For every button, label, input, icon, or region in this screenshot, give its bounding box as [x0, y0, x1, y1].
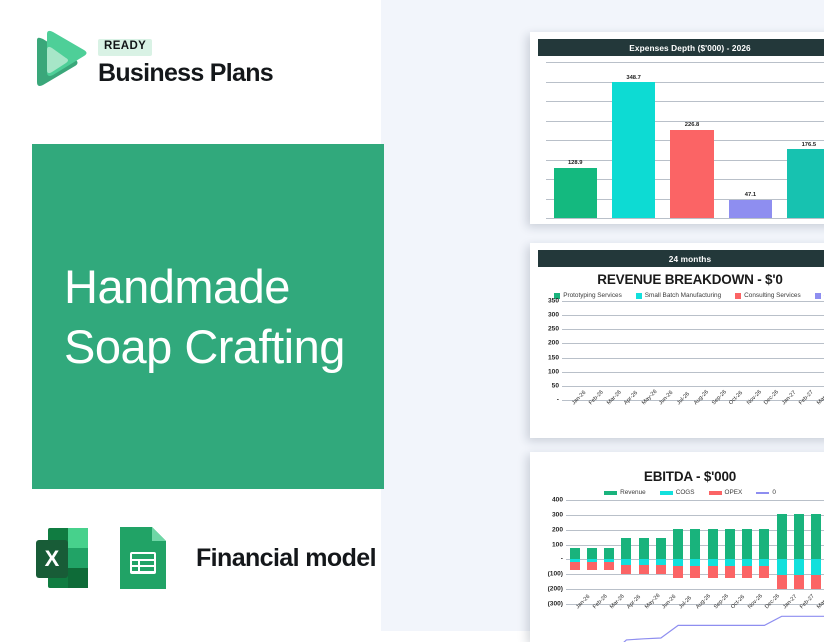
expenses-depth-card: Expenses Depth ($'000) - 2026 128.9348.7… [530, 32, 824, 224]
legend-label: Small Batch Manufacturing [645, 292, 721, 299]
bar-slot [790, 301, 808, 400]
legend-item: Revenue [604, 489, 646, 496]
bar-value-label: 47.1 [745, 192, 756, 198]
x-axis-slot: Nov-26 [739, 604, 756, 634]
brand-header: READY Business Plans [28, 28, 273, 90]
x-axis-slot: Dec-26 [755, 400, 773, 430]
revenue-chart-legend: Prototyping ServicesSmall Batch Manufact… [538, 292, 824, 299]
y-axis-tick-label: (300) [548, 601, 566, 608]
x-axis-slot: May-26 [632, 400, 650, 430]
x-axis-slot: Apr-26 [615, 400, 633, 430]
bar-slot [667, 301, 685, 400]
legend-swatch [709, 491, 722, 495]
legend-swatch [636, 293, 642, 299]
legend-item: - [815, 292, 824, 299]
bar-slot [650, 301, 668, 400]
bar: 226.8 [670, 130, 713, 218]
x-axis-slot: Feb-27 [790, 400, 808, 430]
y-axis-tick-label: 200 [548, 340, 562, 347]
bar-value-label: 128.9 [568, 160, 583, 166]
bar: 47.1 [729, 200, 772, 218]
legend-label: Prototyping Services [563, 292, 622, 299]
legend-label: COGS [676, 489, 695, 496]
bar-value-label: 226.8 [685, 122, 700, 128]
bar-slot: 176.5 [780, 62, 824, 218]
y-axis-tick-label: 150 [548, 354, 562, 361]
bar-value-label: 176.5 [802, 142, 817, 148]
bar: 128.9 [554, 168, 597, 218]
legend-item: COGS [660, 489, 695, 496]
revenue-breakdown-card: 24 months REVENUE BREAKDOWN - $'0 Protot… [530, 243, 824, 438]
footer-label: Financial model [196, 544, 376, 573]
y-axis-tick-label: 200 [552, 526, 566, 533]
bar-slot [615, 301, 633, 400]
revenue-chart-banner: 24 months [538, 250, 824, 267]
legend-label: Revenue [620, 489, 646, 496]
brand-text-block: READY Business Plans [98, 32, 273, 86]
bar-slot: 348.7 [604, 62, 662, 218]
ebitda-card: EBITDA - $'000 RevenueCOGSOPEX0 40030020… [530, 452, 824, 642]
brand-name: Business Plans [98, 60, 273, 86]
y-axis-tick-label: (200) [548, 586, 566, 593]
legend-swatch [756, 492, 769, 494]
x-axis-slot: Jul-26 [670, 604, 687, 634]
y-axis-tick-label: 300 [548, 312, 562, 319]
legend-swatch [660, 491, 673, 495]
y-axis-tick-label: 100 [548, 368, 562, 375]
hero-panel: Handmade Soap Crafting [32, 144, 384, 489]
bar-slot [720, 301, 738, 400]
bar: 348.7 [612, 82, 655, 218]
bar: 176.5 [787, 149, 824, 218]
revenue-chart-plot: 35030025020015010050- Jan-26Feb-26Mar-26… [562, 301, 824, 400]
bar-slot [580, 301, 598, 400]
x-axis-slot: Apr-26 [618, 604, 635, 634]
expenses-bars: 128.9348.7226.847.1176.5 [546, 62, 824, 218]
x-axis-slot: Mar-27 [808, 604, 824, 634]
excel-file-icon[interactable]: X [32, 522, 96, 594]
x-axis-slot: Mar-27 [807, 400, 824, 430]
x-axis-slot: Feb-27 [790, 604, 807, 634]
legend-label: 0 [772, 489, 776, 496]
x-axis-slot: Jan-27 [773, 604, 790, 634]
x-axis-slot: Aug-26 [685, 400, 703, 430]
bar-slot [737, 301, 755, 400]
y-axis-tick-label: 400 [552, 497, 566, 504]
svg-text:X: X [45, 546, 60, 571]
x-axis-slot: Aug-26 [687, 604, 704, 634]
x-axis-slot: Jan-26 [566, 604, 583, 634]
bar-slot [632, 301, 650, 400]
footer-bar: X Financial model [32, 522, 376, 594]
play-triangles-logo-icon [28, 28, 88, 90]
ebitda-x-axis-labels: Jan-26Feb-26Mar-26Apr-26May-26Jun-26Jul-… [566, 604, 824, 634]
ebitda-chart-title: EBITDA - $'000 [538, 469, 824, 484]
x-axis-slot: Jan-26 [562, 400, 580, 430]
bar-slot [685, 301, 703, 400]
bar-slot [772, 301, 790, 400]
x-axis-slot: Jun-26 [650, 400, 668, 430]
x-axis-slot: Sep-26 [704, 604, 721, 634]
y-axis-tick-label: 300 [552, 511, 566, 518]
legend-item: OPEX [709, 489, 743, 496]
bar-slot: 47.1 [721, 62, 779, 218]
legend-label: Consulting Services [744, 292, 800, 299]
y-axis-tick-label: 350 [548, 298, 562, 305]
x-axis-slot: Sep-26 [702, 400, 720, 430]
ebitda-chart-legend: RevenueCOGSOPEX0 [538, 489, 824, 496]
x-axis-slot: Feb-26 [580, 400, 598, 430]
x-axis-slot: Jun-26 [652, 604, 669, 634]
bar-slot [807, 301, 824, 400]
legend-label: OPEX [725, 489, 743, 496]
revenue-bars [562, 301, 824, 400]
expenses-chart-plot: 128.9348.7226.847.1176.5 [546, 62, 824, 218]
bar-value-label: 348.7 [626, 75, 641, 81]
legend-item: 0 [756, 489, 776, 496]
legend-swatch [604, 491, 617, 495]
x-axis-slot: Jul-26 [667, 400, 685, 430]
y-axis-tick-label: 100 [552, 541, 566, 548]
x-axis-slot: Jan-27 [772, 400, 790, 430]
bar-slot: 128.9 [546, 62, 604, 218]
y-axis-tick-label: (100) [548, 571, 566, 578]
x-axis-slot: Mar-26 [601, 604, 618, 634]
ebitda-chart-plot: 400300200100-(100)(200)(300) Jan-26Feb-2… [566, 500, 824, 604]
legend-item: Consulting Services [735, 292, 800, 299]
bar-slot [702, 301, 720, 400]
legend-item: Small Batch Manufacturing [636, 292, 721, 299]
y-axis-tick-label: 250 [548, 326, 562, 333]
page-title: Handmade Soap Crafting [64, 257, 345, 377]
x-axis-slot: Oct-26 [720, 400, 738, 430]
legend-swatch [815, 293, 821, 299]
revenue-x-axis-labels: Jan-26Feb-26Mar-26Apr-26May-26Jun-26Jul-… [562, 400, 824, 430]
gridline [546, 218, 824, 219]
x-axis-slot: Dec-26 [756, 604, 773, 634]
x-axis-slot: Nov-26 [737, 400, 755, 430]
x-axis-slot: Feb-26 [583, 604, 600, 634]
x-axis-slot: May-26 [635, 604, 652, 634]
ready-badge: READY [98, 39, 152, 56]
legend-swatch [735, 293, 741, 299]
expenses-chart-banner: Expenses Depth ($'000) - 2026 [538, 39, 824, 56]
bar-slot [755, 301, 773, 400]
x-axis-slot: Mar-26 [597, 400, 615, 430]
y-axis-tick-label: 50 [552, 382, 562, 389]
legend-item: Prototyping Services [554, 292, 622, 299]
google-sheets-file-icon[interactable] [110, 522, 174, 594]
bar-slot [562, 301, 580, 400]
bar-slot [597, 301, 615, 400]
revenue-chart-title: REVENUE BREAKDOWN - $'0 [538, 272, 824, 287]
x-axis-slot: Oct-26 [721, 604, 738, 634]
bar-slot: 226.8 [663, 62, 721, 218]
